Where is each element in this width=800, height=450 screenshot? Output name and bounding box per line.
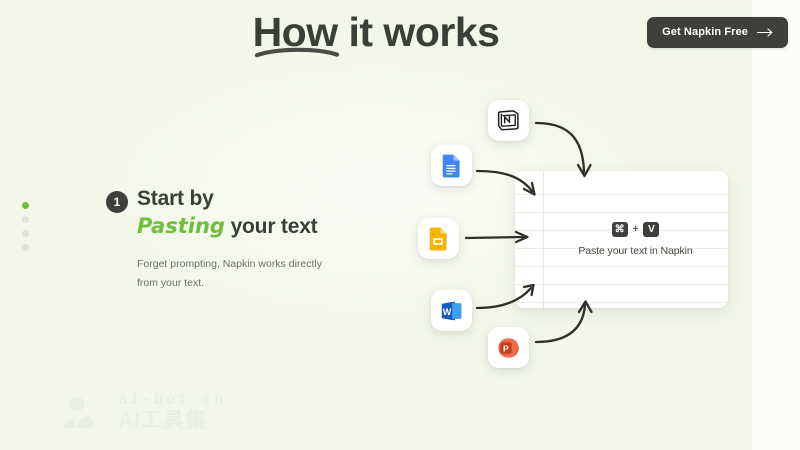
source-icon-google-slides[interactable] <box>418 218 459 259</box>
notion-icon <box>497 109 520 132</box>
step-headline-line1: Start by <box>137 187 214 210</box>
title-underline-swoosh <box>255 46 339 58</box>
slide-root: How it works Get Napkin Free 1 Start by … <box>0 0 800 450</box>
source-icon-microsoft-powerpoint[interactable]: P <box>488 327 529 368</box>
svg-text:W: W <box>443 306 452 316</box>
source-icon-microsoft-word[interactable]: W <box>431 290 472 331</box>
step-headline-rest: your text <box>231 215 318 238</box>
source-icon-google-docs[interactable] <box>431 145 472 186</box>
v-key-cap: V <box>643 222 659 237</box>
command-key-cap: ⌘ <box>612 222 628 237</box>
step-headline: Start by Pasting your text <box>137 186 317 241</box>
google-slides-icon <box>428 227 450 251</box>
step-copy-block: 1 Start by Pasting your text Forget prom… <box>106 186 356 294</box>
watermark-logo-icon <box>62 395 108 429</box>
progress-dot-1[interactable] <box>22 202 29 209</box>
microsoft-word-icon: W <box>439 299 464 323</box>
source-icon-notion[interactable] <box>488 100 529 141</box>
progress-dot-3[interactable] <box>22 230 29 237</box>
key-separator: + <box>633 224 639 235</box>
watermark-line1: ai-bot.cn <box>118 392 226 407</box>
microsoft-powerpoint-icon: P <box>497 336 521 360</box>
right-edge-strip <box>752 0 800 450</box>
page-title-container: How it works <box>0 8 752 57</box>
step-headline-accent: Pasting <box>137 214 225 238</box>
paste-shortcut: ⌘ + V <box>612 222 660 237</box>
step-body-text: Forget prompting, Napkin works directly … <box>137 255 327 294</box>
svg-text:P: P <box>503 343 509 353</box>
watermark: ai-bot.cn AI工具集 <box>62 392 226 431</box>
card-content: ⌘ + V Paste your text in Napkin <box>543 171 728 308</box>
step-number-badge: 1 <box>106 191 128 213</box>
get-napkin-free-button[interactable]: Get Napkin Free <box>647 17 788 48</box>
watermark-text: ai-bot.cn AI工具集 <box>118 392 226 431</box>
napkin-paste-card[interactable]: ⌘ + V Paste your text in Napkin <box>515 171 728 308</box>
step-progress-dots[interactable] <box>22 202 29 251</box>
watermark-line2: AI工具集 <box>118 410 226 431</box>
step-headline-row: 1 Start by Pasting your text <box>106 186 356 241</box>
arrow-right-icon <box>757 28 774 37</box>
cta-label: Get Napkin Free <box>662 26 748 38</box>
google-docs-icon <box>441 154 463 178</box>
progress-dot-2[interactable] <box>22 216 29 223</box>
paste-caption: Paste your text in Napkin <box>578 245 692 257</box>
page-title: How it works <box>253 8 500 57</box>
progress-dot-4[interactable] <box>22 244 29 251</box>
